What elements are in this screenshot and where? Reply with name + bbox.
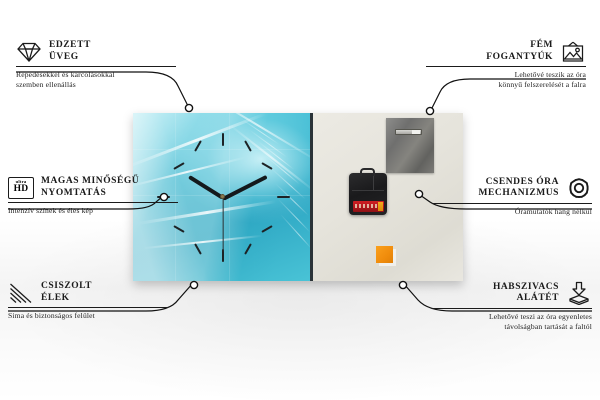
clock-tick	[261, 225, 272, 233]
feature-description: Lehetővé teszik az órakönnyű felszerelés…	[426, 70, 586, 89]
clock-tick	[277, 196, 290, 198]
feature-description: Intenzív színek és éles kép	[8, 206, 178, 216]
clock-tick	[261, 162, 272, 170]
wire-endpoint-tempered-glass	[185, 104, 192, 111]
clock-hand-minute	[222, 174, 267, 199]
diamond-icon	[16, 41, 42, 63]
feature-divider	[16, 66, 176, 67]
feature-divider	[8, 307, 168, 308]
quartz-mechanism	[349, 173, 387, 215]
feature-high-quality-print: ultra HD MAGAS MINŐSÉGŰNYOMTATÁS Intenzí…	[8, 176, 178, 216]
wire-endpoint-foam-pad	[399, 281, 406, 288]
clock-hand-cap	[220, 194, 225, 199]
feature-divider	[426, 66, 586, 67]
clock-tick	[173, 225, 184, 233]
feature-divider	[432, 203, 592, 204]
feature-divider	[432, 308, 592, 309]
feature-title: CSENDES ÓRAMECHANIZMUS	[432, 177, 559, 200]
feature-title: EDZETTÜVEG	[49, 40, 91, 63]
feature-metal-hangers: FÉMFOGANTYÚK Lehetővé teszik az órakönny…	[426, 40, 586, 89]
arrow-into-layers-icon	[566, 281, 592, 305]
wire-endpoint-polished-edges	[190, 281, 197, 288]
foam-spacer-pad	[376, 246, 393, 263]
feature-divider	[8, 202, 178, 203]
feature-foam-pad: HABSZIVACSALÁTÉT Lehetővé teszi az óra e…	[432, 281, 592, 331]
ultra-hd-large-text: HD	[14, 185, 29, 195]
clock-tick	[194, 243, 202, 254]
product-image	[133, 113, 463, 281]
hanger-slot	[395, 129, 422, 135]
feature-description: Lehetővé teszi az óra egyenletestávolság…	[432, 312, 592, 331]
feature-silent-mechanism: CSENDES ÓRAMECHANIZMUS Óramutatók hang n…	[432, 176, 592, 217]
picture-frame-hanger-icon	[560, 41, 586, 63]
feature-description: Óramutatók hang nélkül	[432, 207, 592, 217]
clock-hand-second	[222, 198, 223, 252]
infographic-canvas: EDZETTÜVEG Repedésekkel és karcolásokkal…	[0, 0, 600, 400]
clock-hand-hour	[188, 175, 224, 200]
metal-hanger-plate	[386, 118, 434, 173]
ultra-hd-icon: ultra HD	[8, 177, 34, 199]
feature-polished-edges: CSISZOLTÉLEK Sima és biztonságos felület	[8, 281, 168, 321]
clock-tick	[173, 162, 184, 170]
mechanism-divider	[373, 176, 374, 190]
feature-description: Sima és biztonságos felület	[8, 311, 168, 321]
feature-title: HABSZIVACSALÁTÉT	[432, 282, 559, 305]
clock-tick	[194, 140, 202, 151]
clock-tick	[244, 140, 252, 151]
mechanism-seam	[352, 190, 384, 191]
feature-title: FÉMFOGANTYÚK	[426, 40, 553, 63]
clock-tick	[244, 243, 252, 254]
battery-label	[355, 204, 378, 208]
clock-tick	[222, 133, 224, 146]
beveled-edge-icon	[8, 282, 34, 304]
feature-title: MAGAS MINŐSÉGŰNYOMTATÁS	[41, 176, 139, 199]
feature-title: CSISZOLTÉLEK	[41, 281, 92, 304]
gear-icon	[566, 176, 592, 200]
feature-tempered-glass: EDZETTÜVEG Repedésekkel és karcolásokkal…	[16, 40, 176, 89]
feature-description: Repedésekkel és karcolásokkalszemben ell…	[16, 70, 176, 89]
battery	[353, 201, 384, 212]
mechanism-hook	[360, 168, 375, 176]
